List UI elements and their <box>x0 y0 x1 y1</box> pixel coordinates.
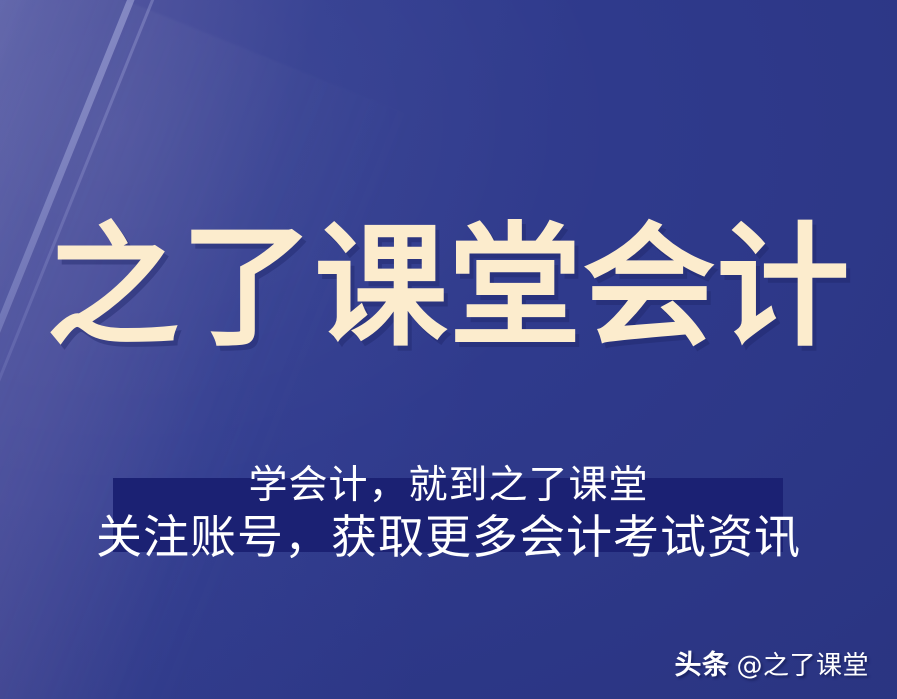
watermark-account-handle: @之了课堂 <box>736 645 869 682</box>
watermark: 头条 @之了课堂 <box>674 643 869 682</box>
subtitle-block: 学会计，就到之了课堂 关注账号，获取更多会计考试资讯 <box>0 462 897 565</box>
subtitle-line-1: 学会计，就到之了课堂 <box>0 462 897 509</box>
promo-poster: 之了课堂会计 学会计，就到之了课堂 关注账号，获取更多会计考试资讯 头条 @之了… <box>0 0 897 699</box>
subtitle-line-2: 关注账号，获取更多会计考试资讯 <box>0 509 897 565</box>
page-title: 之了课堂会计 <box>0 213 897 363</box>
watermark-platform-label: 头条 <box>674 643 729 682</box>
